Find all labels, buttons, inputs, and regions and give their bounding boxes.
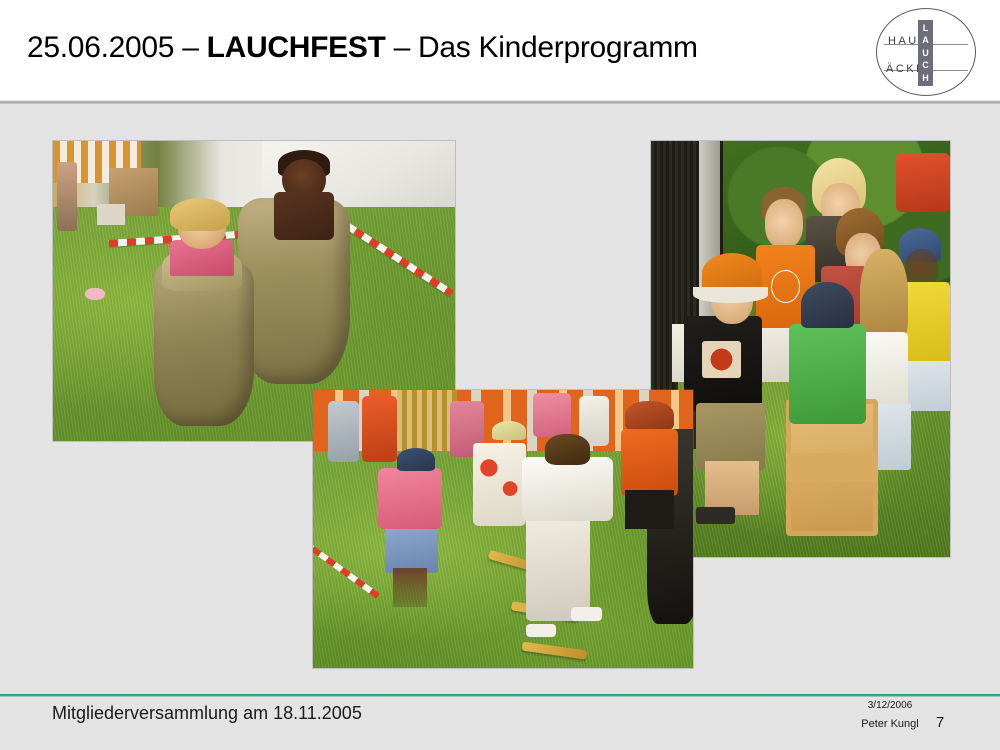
shoe — [571, 607, 601, 621]
tshirt-print — [702, 341, 741, 378]
shoe — [526, 624, 556, 638]
white-shirt-girl — [522, 457, 613, 521]
photo-plank-walking — [313, 390, 693, 668]
sun-hat — [492, 421, 526, 440]
crowd-figure — [533, 393, 571, 437]
title-dash-1: – — [182, 31, 206, 64]
crowd-figure — [362, 396, 396, 463]
logo-letter-u: U — [922, 49, 929, 58]
pink-litter — [85, 288, 105, 300]
small-box — [97, 204, 125, 225]
title-emphasis: LAUCHFEST — [207, 31, 386, 64]
header-divider — [0, 100, 1000, 104]
logo: HAU ÄCKER L A U C H — [876, 8, 976, 96]
hair-first-girl — [170, 198, 230, 231]
logo-text-lauch: L A U C H — [918, 20, 933, 86]
navy-bucket-hat — [397, 448, 435, 470]
crowd-figure — [328, 401, 358, 462]
logo-letter-h: H — [922, 74, 929, 83]
sandal — [696, 507, 735, 524]
orange-top-woman — [621, 429, 678, 496]
torso-second-girl — [274, 192, 334, 240]
title-subtitle: Das Kinderprogramm — [418, 31, 698, 64]
photo-craft-table — [651, 141, 950, 557]
hair-girl-white-shirt — [545, 434, 591, 465]
green-shirt-child — [789, 324, 867, 424]
footer-event-label: Mitgliederversammlung am 18.11.2005 — [52, 703, 362, 724]
legs-child-pink-shirt — [393, 568, 427, 607]
slide-page-number: 7 — [925, 714, 955, 731]
logo-letter-l: L — [923, 24, 929, 33]
pink-shirt-child — [378, 468, 443, 529]
hair-woman-orange-top — [625, 401, 674, 432]
footer-date: 3/12/2006 — [830, 700, 950, 712]
title-date: 25.06.2005 — [27, 31, 182, 64]
photo-plank-walking-scene — [313, 390, 693, 668]
logo-letter-a: A — [922, 36, 929, 45]
flowered-dress-girl — [473, 443, 526, 526]
skirt-woman-orange-top — [625, 490, 674, 529]
logo-letter-c: C — [922, 61, 929, 70]
page-title: 25.06.2005 – LAUCHFEST – Das Kinderprogr… — [27, 27, 847, 69]
chair-seat — [786, 453, 879, 482]
bystander-legs — [57, 162, 77, 231]
footer-divider — [0, 694, 1000, 697]
title-dash-2: – — [386, 31, 418, 64]
navy-cap-child — [801, 282, 855, 328]
photo-craft-table-scene — [651, 141, 950, 557]
hair-girl-white-top — [860, 249, 908, 345]
adult-red-shirt — [896, 153, 950, 211]
shorts-seated-boy — [696, 403, 765, 470]
slide-canvas: 25.06.2005 – LAUCHFEST – Das Kinderprogr… — [0, 0, 1000, 750]
blue-shorts-child — [385, 523, 438, 573]
slide-header: 25.06.2005 – LAUCHFEST – Das Kinderprogr… — [0, 0, 1000, 102]
head-boy-orange-tee — [765, 199, 804, 249]
white-pants-girl — [526, 515, 591, 621]
